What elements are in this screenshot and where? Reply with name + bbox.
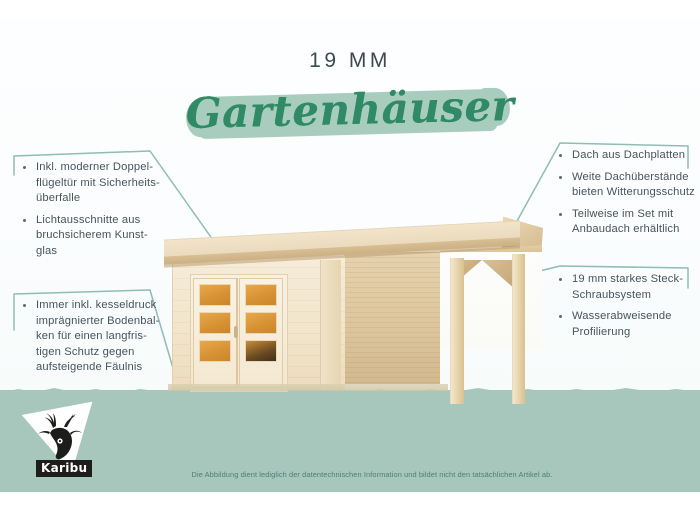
feature-item: Weite Dachüberstände bieten Witterungssc… [558,170,700,201]
canopy-post-rear [512,254,525,404]
glass-pane [199,340,231,362]
feature-item: Dach aus Dachplatten [558,148,700,164]
feature-list: Dach aus Dachplatten Weite Dachüberständ… [558,148,700,238]
glass-pane [199,312,231,334]
deer-head-icon [31,408,89,464]
headline-script: Gartenhäuser [0,76,700,142]
feature-block-wall: 19 mm starkes Steck- Schraubsystem Wasse… [558,272,700,341]
disclaimer-text: Die Abbildung dient lediglich der datent… [0,470,700,479]
feature-block-doors: Inkl. moderner Doppel- flügeltür mit Sic… [22,160,174,261]
glass-pane [199,284,231,306]
door-handle [234,326,238,338]
cabin-side-wall [344,252,440,384]
feature-block-floor: Immer inkl. kesseldruck imprägnierter Bo… [22,298,174,377]
glass-pane [245,284,277,306]
glass-pane [245,312,277,334]
infographic-canvas: 19 MM Gartenhäuser [0,0,700,525]
base-ground-shadow [168,384,448,391]
garden-house-illustration [150,208,550,408]
headline-script-wrap: Gartenhäuser [0,87,700,149]
headline-block: 19 MM Gartenhäuser [0,50,700,149]
headline-kicker: 19 MM [0,50,700,71]
feature-list: 19 mm starkes Steck- Schraubsystem Wasse… [558,272,700,340]
feature-item: Teilweise im Set mit Anbaudach erhältlic… [558,207,700,238]
feature-item: Immer inkl. kesseldruck imprägnierter Bo… [22,298,174,376]
feature-list: Immer inkl. kesseldruck imprägnierter Bo… [22,298,174,376]
canopy-post-front [450,258,464,404]
glass-pane [245,340,277,362]
disclaimer-label: Die Abbildung dient lediglich der datent… [192,470,553,479]
feature-block-roof: Dach aus Dachplatten Weite Dachüberständ… [558,148,700,239]
cabin-corner-strip [320,260,341,390]
feature-item: Lichtausschnitte aus bruchsicherem Kunst… [22,213,174,260]
feature-item: Inkl. moderner Doppel- flügeltür mit Sic… [22,160,174,207]
feature-list: Inkl. moderner Doppel- flügeltür mit Sic… [22,160,174,260]
feature-item: Wasserabweisende Profilierung [558,309,700,340]
feature-item: 19 mm starkes Steck- Schraubsystem [558,272,700,303]
door-leaf-right [239,278,283,388]
door-leaf-left [193,278,237,388]
